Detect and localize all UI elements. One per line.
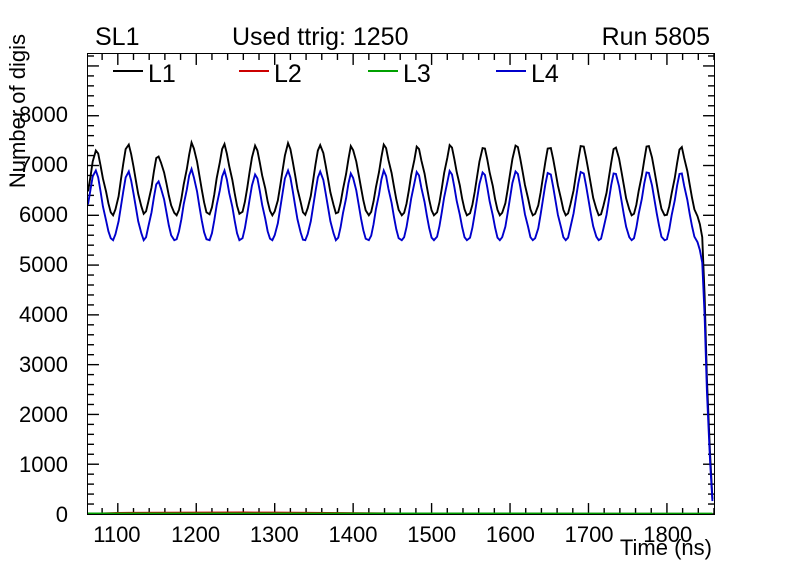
x-tick-label: 1200 xyxy=(171,524,220,546)
legend-label: L3 xyxy=(403,60,431,88)
legend-swatch-line-icon xyxy=(368,70,398,72)
x-axis-title: Time (ns) xyxy=(620,536,712,560)
x-tick-label: 1300 xyxy=(250,524,299,546)
x-tick-label: 1100 xyxy=(93,524,140,546)
y-tick-label: 3000 xyxy=(19,354,68,376)
y-tick-label: 6000 xyxy=(19,204,68,226)
legend-label: L2 xyxy=(274,60,302,88)
x-tick-label: 1700 xyxy=(565,524,614,546)
y-tick-label: 4000 xyxy=(19,304,68,326)
legend-item-l2[interactable]: L2 xyxy=(239,58,302,90)
legend-item-l3[interactable]: L3 xyxy=(368,58,431,90)
y-tick-label: 1000 xyxy=(19,454,68,476)
x-tick-label: 1500 xyxy=(407,524,456,546)
legend-swatch-line-icon xyxy=(496,70,526,72)
x-tick-label: 1400 xyxy=(329,524,378,546)
y-tick-label: 2000 xyxy=(19,404,68,426)
legend-swatch-line-icon xyxy=(239,70,269,72)
legend-swatch-line-icon xyxy=(113,70,143,72)
y-tick-label: 5000 xyxy=(19,254,68,276)
chart-root: SL1 Used ttrig: 1250 Run 5805 0100020003… xyxy=(0,0,796,572)
legend-label: L1 xyxy=(148,60,176,88)
legend-item-l4[interactable]: L4 xyxy=(496,58,559,90)
plot-canvas xyxy=(88,54,714,514)
plot-frame xyxy=(87,53,715,515)
legend-label: L4 xyxy=(531,60,559,88)
chart-legend: L1L2L3L4 xyxy=(87,58,715,90)
legend-item-l1[interactable]: L1 xyxy=(113,58,176,90)
y-axis-title: Number of digis xyxy=(6,34,30,188)
y-tick-label: 0 xyxy=(56,504,68,526)
x-tick-label: 1600 xyxy=(486,524,535,546)
